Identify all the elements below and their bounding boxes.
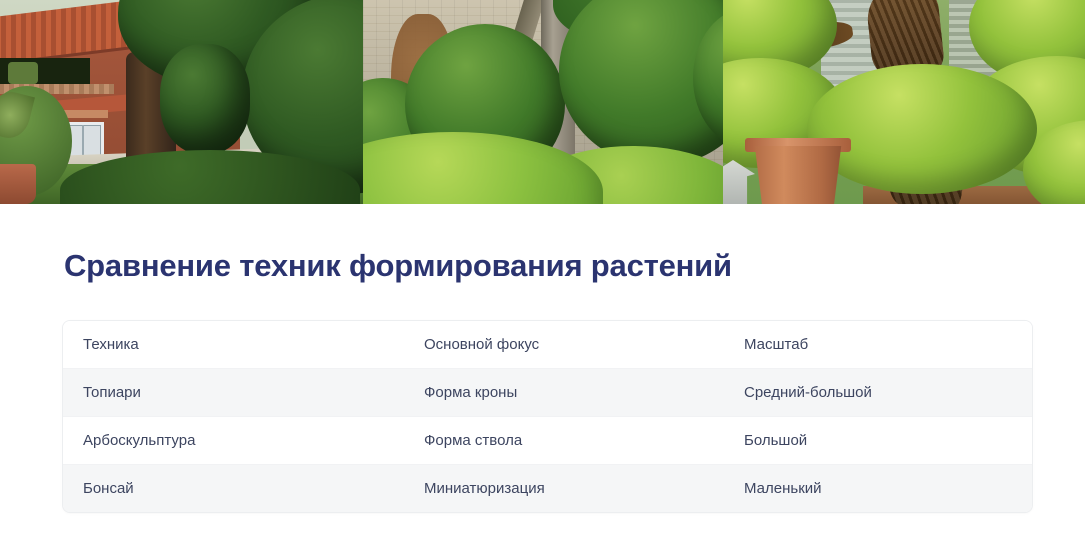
- hero-image-topiary-ball-by-brick-house: [0, 0, 363, 204]
- cell-technique: Бонсай: [63, 465, 404, 513]
- table-row: Бонсай Миниатюризация Маленький: [63, 465, 1032, 513]
- foliage-pad-main: [807, 64, 1037, 194]
- hero-image-strip: [0, 0, 1085, 204]
- terracotta-pot: [751, 146, 845, 204]
- hero-image-pruned-shrubs-by-stone-wall: [363, 0, 723, 204]
- cell-focus: Форма кроны: [404, 369, 724, 417]
- table-header-row: Техника Основной фокус Масштаб: [63, 321, 1032, 369]
- terracotta-pot: [0, 164, 36, 204]
- table-row: Арбоскульптура Форма ствола Большой: [63, 417, 1032, 465]
- hero-image-cloud-pruned-niwaki-in-pot: [723, 0, 1085, 204]
- cell-scale: Большой: [724, 417, 1032, 465]
- cell-scale: Средний-большой: [724, 369, 1032, 417]
- cell-scale: Маленький: [724, 465, 1032, 513]
- cell-focus: Миниатюризация: [404, 465, 724, 513]
- column-header-focus: Основной фокус: [404, 321, 724, 369]
- page-title: Сравнение техник формирования растений: [0, 204, 1085, 283]
- topiary-ball-small: [160, 44, 250, 154]
- column-header-scale: Масштаб: [724, 321, 1032, 369]
- comparison-table-container: Техника Основной фокус Масштаб Топиари Ф…: [63, 321, 1032, 512]
- cell-technique: Топиари: [63, 369, 404, 417]
- cell-focus: Форма ствола: [404, 417, 724, 465]
- page-content: Сравнение техник формирования растений Т…: [0, 204, 1085, 512]
- table-row: Топиари Форма кроны Средний-большой: [63, 369, 1032, 417]
- comparison-table: Техника Основной фокус Масштаб Топиари Ф…: [63, 321, 1032, 512]
- table-body: Топиари Форма кроны Средний-большой Арбо…: [63, 369, 1032, 513]
- balcony-plant: [8, 62, 38, 84]
- table-header: Техника Основной фокус Масштаб: [63, 321, 1032, 369]
- column-header-technique: Техника: [63, 321, 404, 369]
- cell-technique: Арбоскульптура: [63, 417, 404, 465]
